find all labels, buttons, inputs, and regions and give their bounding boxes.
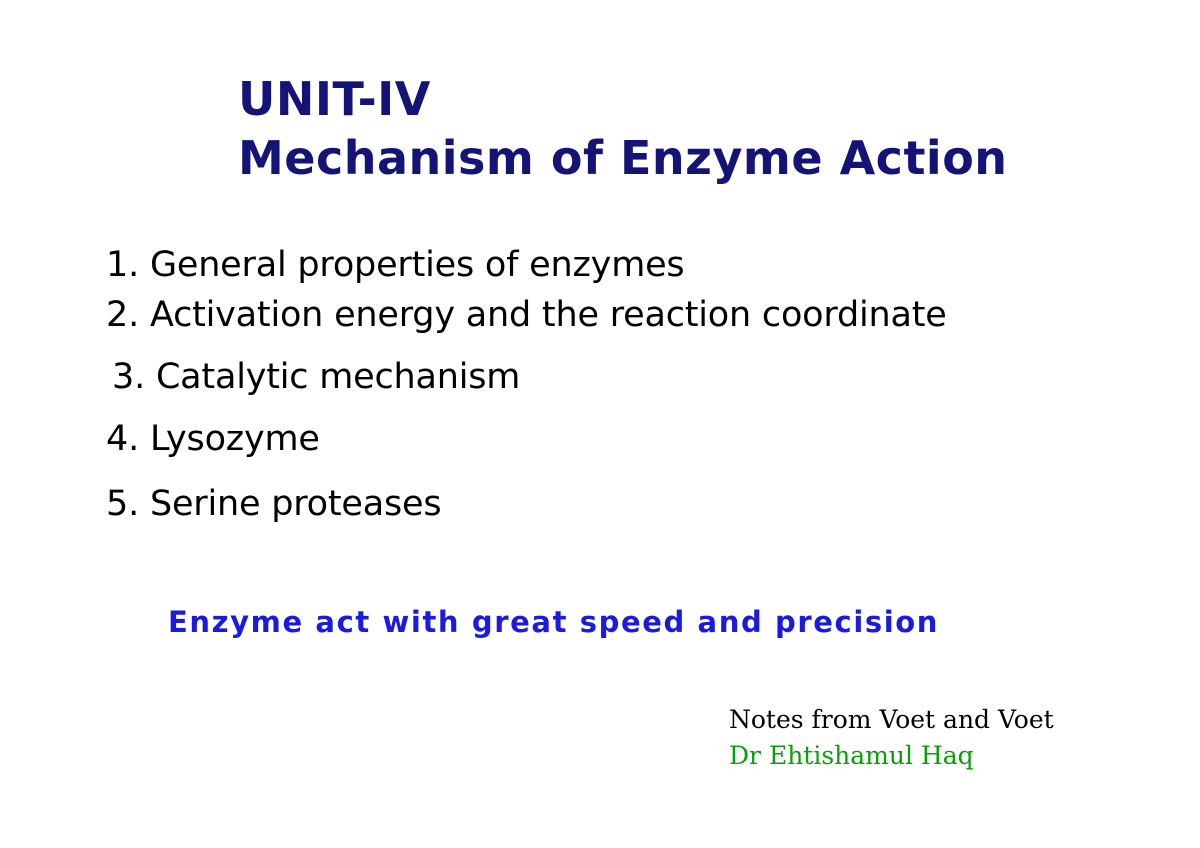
footer-source-note: Notes from Voet and Voet — [729, 702, 1149, 738]
list-item-label: Activation energy and the reaction coord… — [150, 295, 947, 335]
list-item-number: 2. — [106, 295, 139, 335]
list-item: 2. Activation energy and the reaction co… — [106, 294, 947, 336]
title-line-subject: Mechanism of Enzyme Action — [238, 128, 1138, 188]
list-item-label: Catalytic mechanism — [156, 357, 520, 397]
footer-author-name: Dr Ehtishamul Haq — [729, 738, 1149, 774]
list-item-label: Serine proteases — [150, 484, 441, 524]
title-line-unit: UNIT-IV — [238, 72, 1138, 126]
list-item: 4. Lysozyme — [106, 418, 320, 460]
list-item-number: 4. — [106, 419, 139, 459]
list-item: 1. General properties of enzymes — [106, 244, 684, 286]
list-item: 3. Catalytic mechanism — [112, 356, 520, 398]
list-item-number: 1. — [106, 245, 139, 285]
slide-canvas: UNIT-IV Mechanism of Enzyme Action 1. Ge… — [0, 0, 1200, 848]
slide-footer: Notes from Voet and Voet Dr Ehtishamul H… — [729, 702, 1149, 774]
list-item-number: 5. — [106, 484, 139, 524]
list-item-label: General properties of enzymes — [150, 245, 685, 285]
tagline-text: Enzyme act with great speed and precisio… — [168, 604, 939, 640]
slide-title: UNIT-IV Mechanism of Enzyme Action — [238, 72, 1138, 188]
list-item: 5. Serine proteases — [106, 483, 441, 525]
list-item-label: Lysozyme — [150, 419, 320, 459]
list-item-number: 3. — [112, 357, 145, 397]
